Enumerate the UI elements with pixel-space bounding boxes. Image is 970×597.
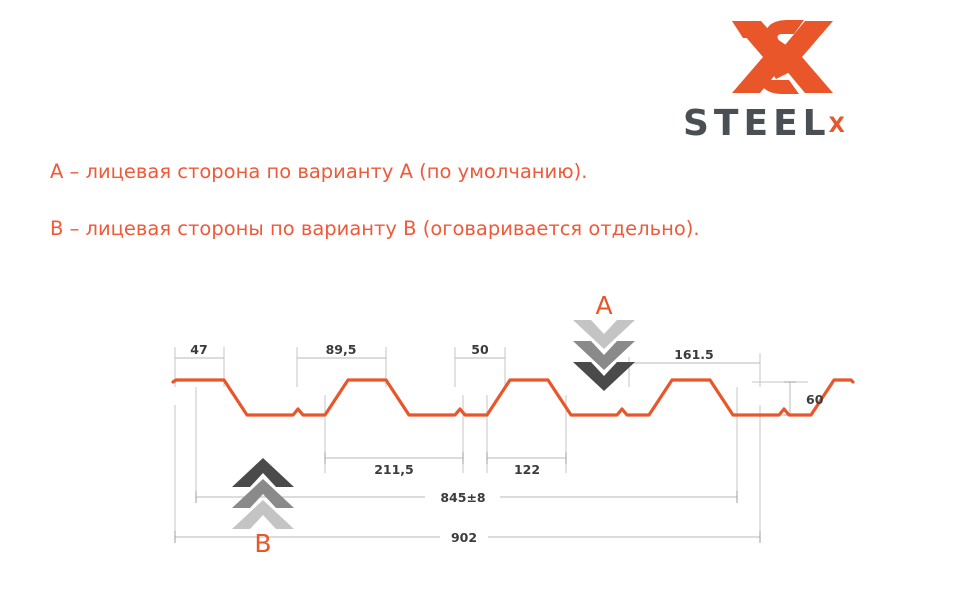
dim-label-902: 902 <box>451 530 477 545</box>
marker-a: A <box>573 291 635 391</box>
dim-label-211-5: 211,5 <box>374 462 414 477</box>
logo-steel-text: STEEL <box>683 104 831 144</box>
brand-logo: STEELX <box>683 18 883 148</box>
logo-x-superscript: X <box>829 113 845 137</box>
marker-a-label: A <box>595 291 612 320</box>
dim-label-122: 122 <box>514 462 540 477</box>
dim-label-50: 50 <box>471 342 489 357</box>
marker-b-chevrons <box>232 458 294 529</box>
marker-a-chevrons <box>573 320 635 391</box>
marker-b: B <box>232 458 294 558</box>
dim-label-47: 47 <box>190 342 207 357</box>
profile-outline <box>173 380 853 415</box>
steelx-x-monogram-icon <box>730 18 835 96</box>
dim-label-161-5: 161.5 <box>674 347 714 362</box>
dim-label-60: 60 <box>806 392 824 407</box>
marker-b-label: B <box>254 529 271 558</box>
dim-label-89-5: 89,5 <box>326 342 357 357</box>
legend-item-a: A – лицевая сторона по варианту А (по ум… <box>50 160 587 183</box>
profile-technical-drawing: 47 89,5 50 161.5 211,5 122 60 845±8 902 … <box>0 275 970 565</box>
legend-item-b: В – лицевая стороны по варианту В (огова… <box>50 217 700 240</box>
logo-wordmark: STEELX <box>683 104 883 148</box>
dim-label-845: 845±8 <box>440 490 485 505</box>
